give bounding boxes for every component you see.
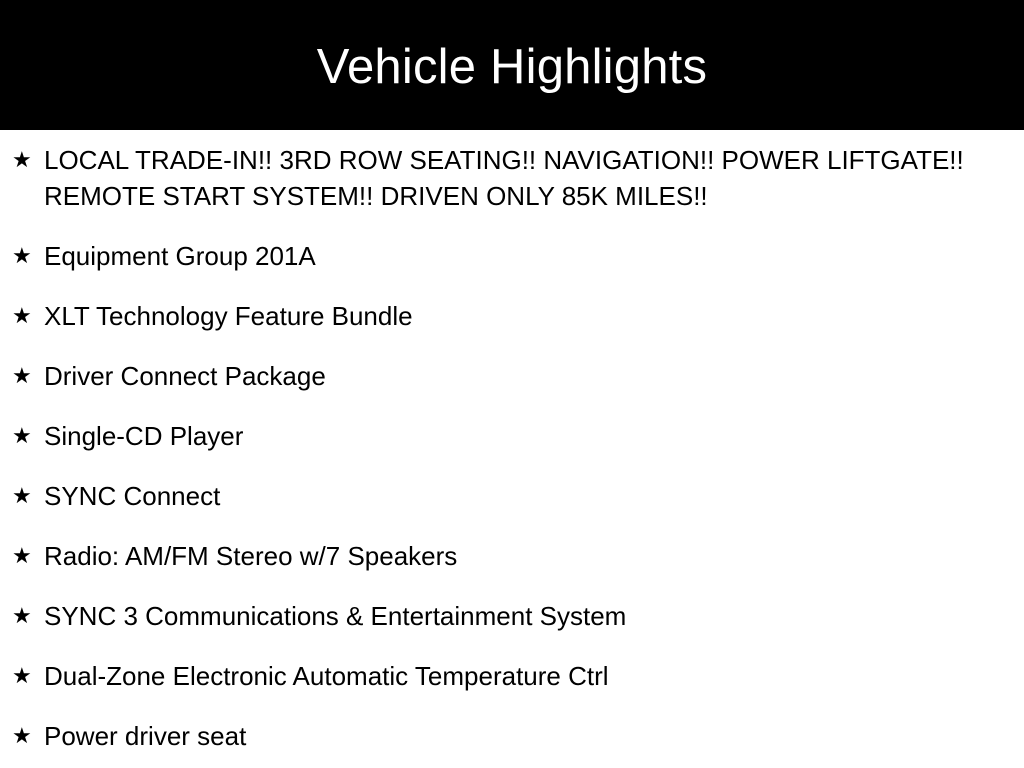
list-item-label: SYNC Connect — [44, 478, 978, 514]
list-item-label: Driver Connect Package — [44, 358, 978, 394]
star-icon: ★ — [12, 478, 36, 514]
list-item-label: XLT Technology Feature Bundle — [44, 298, 978, 334]
page-header-band: Vehicle Highlights — [0, 0, 1024, 130]
star-icon: ★ — [12, 142, 36, 178]
star-icon: ★ — [12, 358, 36, 394]
list-item: ★ Driver Connect Package — [0, 358, 1024, 394]
list-item-label: SYNC 3 Communications & Entertainment Sy… — [44, 598, 978, 634]
list-item: ★ Dual-Zone Electronic Automatic Tempera… — [0, 658, 1024, 694]
list-item-label: Dual-Zone Electronic Automatic Temperatu… — [44, 658, 978, 694]
list-item-label: Power driver seat — [44, 718, 978, 754]
list-item-label: LOCAL TRADE-IN!! 3RD ROW SEATING!! NAVIG… — [44, 142, 978, 214]
list-item: ★ LOCAL TRADE-IN!! 3RD ROW SEATING!! NAV… — [0, 142, 1024, 214]
vehicle-highlights-page: Vehicle Highlights ★ LOCAL TRADE-IN!! 3R… — [0, 0, 1024, 768]
star-icon: ★ — [12, 238, 36, 274]
star-icon: ★ — [12, 298, 36, 334]
list-item: ★ SYNC 3 Communications & Entertainment … — [0, 598, 1024, 634]
list-item: ★ Equipment Group 201A — [0, 238, 1024, 274]
star-icon: ★ — [12, 598, 36, 634]
list-item-label: Single-CD Player — [44, 418, 978, 454]
list-item: ★ Radio: AM/FM Stereo w/7 Speakers — [0, 538, 1024, 574]
list-item: ★ XLT Technology Feature Bundle — [0, 298, 1024, 334]
list-item: ★ SYNC Connect — [0, 478, 1024, 514]
list-item-label: Radio: AM/FM Stereo w/7 Speakers — [44, 538, 978, 574]
list-item: ★ Single-CD Player — [0, 418, 1024, 454]
star-icon: ★ — [12, 418, 36, 454]
star-icon: ★ — [12, 658, 36, 694]
highlights-list: ★ LOCAL TRADE-IN!! 3RD ROW SEATING!! NAV… — [0, 130, 1024, 768]
page-title: Vehicle Highlights — [317, 43, 707, 92]
list-item: ★ Power driver seat — [0, 718, 1024, 754]
star-icon: ★ — [12, 538, 36, 574]
list-item-label: Equipment Group 201A — [44, 238, 978, 274]
star-icon: ★ — [12, 718, 36, 754]
